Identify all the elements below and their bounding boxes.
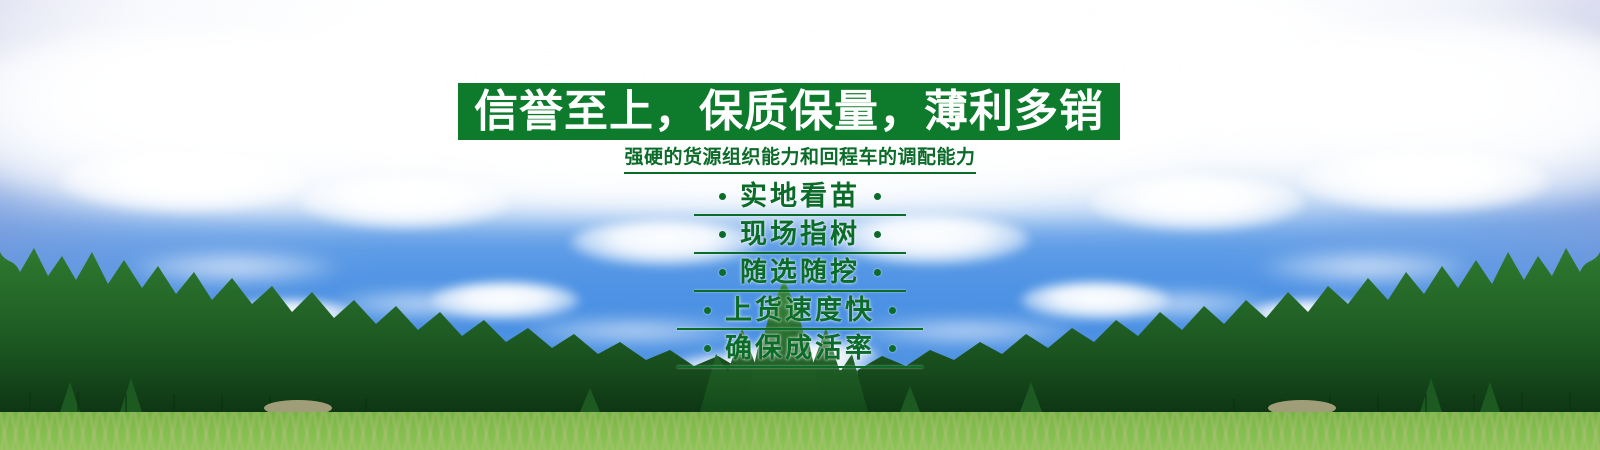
dot-bullet-icon (719, 193, 726, 200)
headline-text: 信誉至上，保质保量，薄利多销 (474, 90, 1104, 134)
feature-divider (694, 252, 906, 254)
feature-item: 随选随挖 (719, 256, 881, 289)
feature-list: 实地看苗现场指树随选随挖上货速度快确保成活率 (0, 180, 1600, 370)
promo-banner: 信誉至上，保质保量，薄利多销 强硬的货源组织能力和回程车的调配能力 实地看苗现场… (0, 0, 1600, 450)
dot-bullet-icon (704, 345, 711, 352)
soil-mounds (0, 388, 1600, 412)
dot-bullet-icon (889, 345, 896, 352)
dot-bullet-icon (719, 269, 726, 276)
feature-item: 实地看苗 (719, 180, 881, 213)
feature-item: 上货速度快 (704, 294, 896, 327)
dot-bullet-icon (719, 231, 726, 238)
crop-rows-right (0, 408, 1600, 450)
feature-divider (694, 214, 906, 216)
feature-divider (677, 366, 923, 368)
feature-divider (694, 290, 906, 292)
subtitle-text: 强硬的货源组织能力和回程车的调配能力 (624, 146, 975, 174)
dot-bullet-icon (874, 193, 881, 200)
feature-label: 实地看苗 (740, 183, 860, 210)
feature-label: 随选随挖 (740, 259, 860, 286)
feature-label: 现场指树 (740, 221, 860, 248)
subtitle-container: 强硬的货源组织能力和回程车的调配能力 (0, 146, 1600, 174)
feature-label: 确保成活率 (725, 335, 875, 362)
feature-item: 确保成活率 (704, 332, 896, 365)
dot-bullet-icon (704, 307, 711, 314)
feature-divider (677, 328, 923, 330)
dot-bullet-icon (874, 231, 881, 238)
feature-label: 上货速度快 (725, 297, 875, 324)
headline-band: 信誉至上，保质保量，薄利多销 (458, 83, 1120, 140)
dot-bullet-icon (874, 269, 881, 276)
feature-item: 现场指树 (719, 218, 881, 251)
dot-bullet-icon (889, 307, 896, 314)
